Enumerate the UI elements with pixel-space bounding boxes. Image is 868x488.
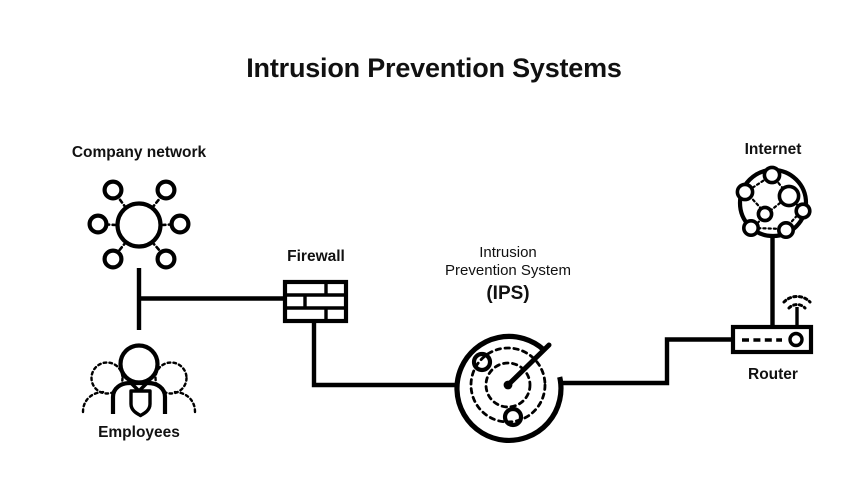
- node-label-router: Router: [692, 366, 854, 385]
- page-title: Intrusion Prevention Systems: [0, 52, 868, 85]
- employees-group-icon: [83, 346, 195, 416]
- node-label-employees: Employees: [39, 424, 239, 443]
- node-label-firewall: Firewall: [236, 248, 396, 267]
- node-label-internet: Internet: [693, 141, 853, 160]
- radar-scanner-icon: [457, 336, 561, 440]
- node-label-ips-line1: Intrusion: [479, 244, 537, 261]
- node-label-ips-abbreviation: (IPS): [388, 282, 628, 305]
- network-hub-icon: [90, 182, 189, 268]
- brick-wall-icon: [285, 282, 346, 321]
- internet-globe-icon: [737, 167, 809, 237]
- node-label-company-network: Company network: [0, 144, 278, 163]
- connector-firewall-to-ips: [314, 321, 457, 385]
- diagram-canvas: Intrusion Prevention Systems Company net…: [0, 0, 868, 488]
- node-label-ips: Intrusion Prevention System (IPS): [388, 244, 628, 305]
- node-label-ips-line2: Prevention System: [445, 262, 571, 279]
